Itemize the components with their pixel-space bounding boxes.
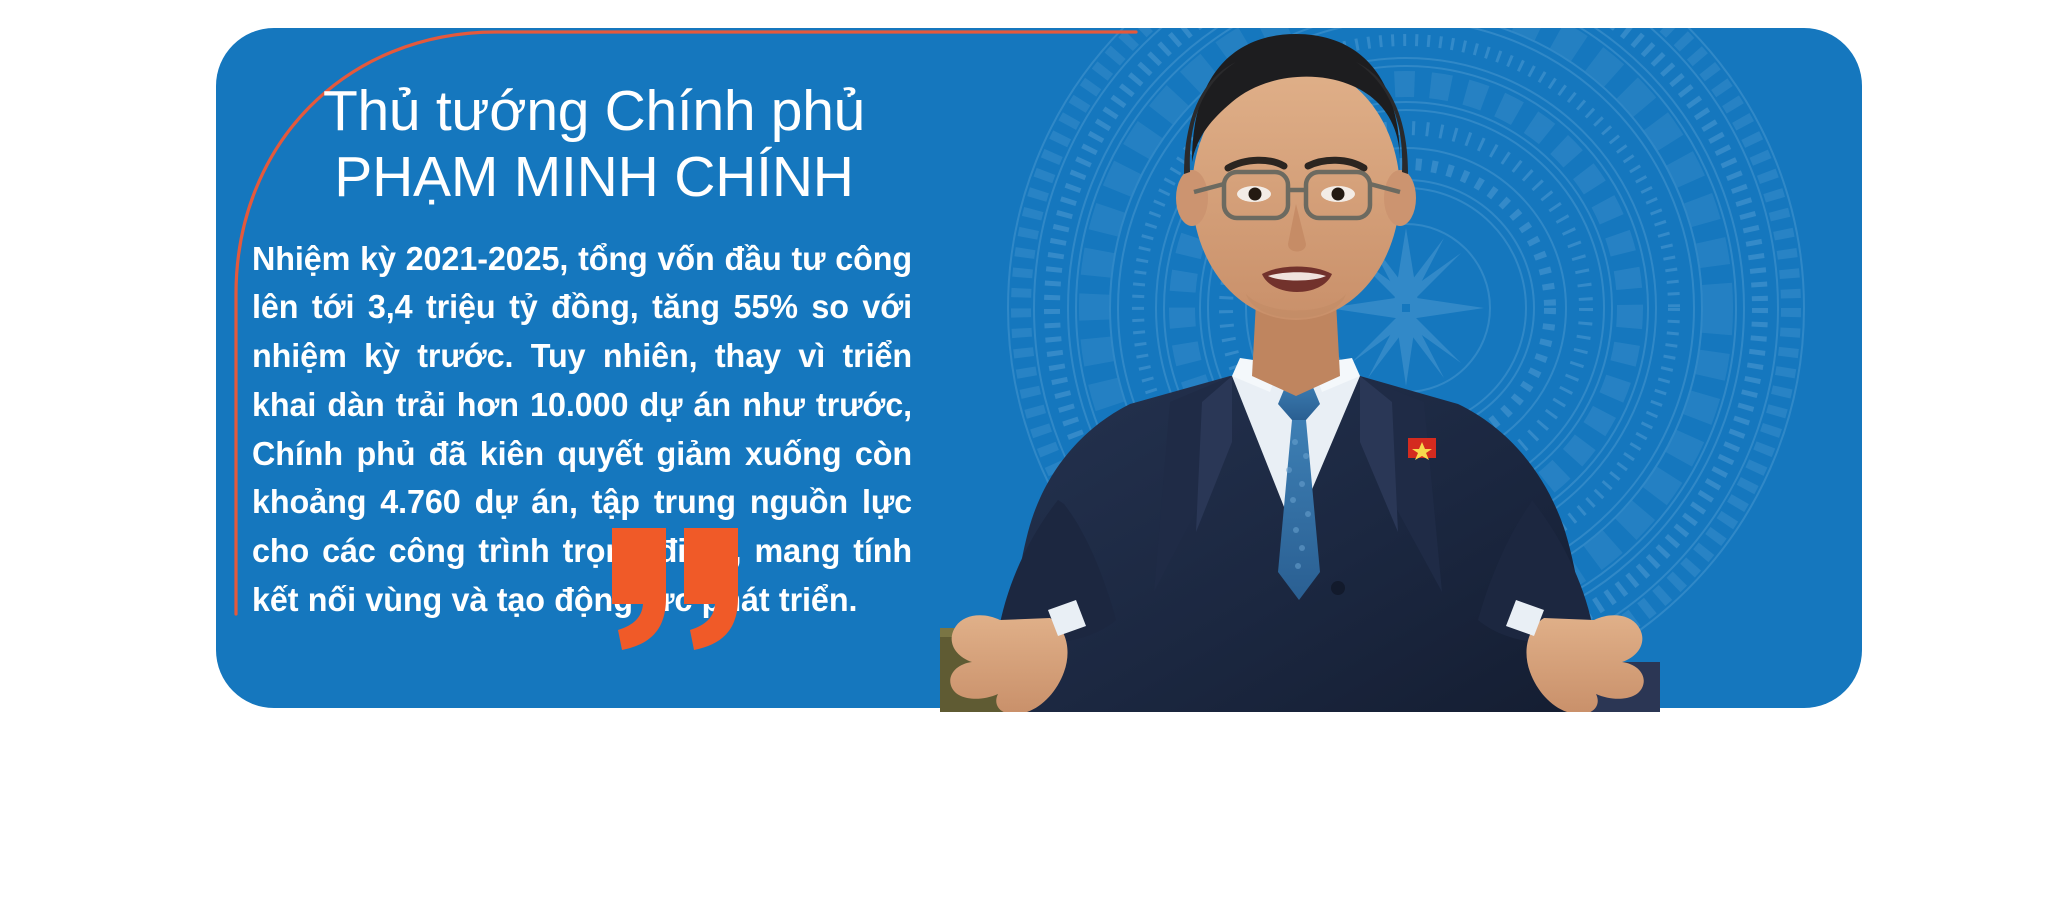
quote-text-column: Thủ tướng Chính phủ PHẠM MINH CHÍNH Nhiệ… xyxy=(252,80,936,626)
quote-body-paragraph: Nhiệm kỳ 2021-2025, tổng vốn đầu tư công… xyxy=(252,236,912,626)
quote-title-name: PHẠM MINH CHÍNH xyxy=(252,146,936,210)
screenshot-root: Thủ tướng Chính phủ PHẠM MINH CHÍNH Nhiệ… xyxy=(0,0,2048,915)
dong-son-drum-watermark-icon xyxy=(996,28,1816,708)
quote-card: Thủ tướng Chính phủ PHẠM MINH CHÍNH Nhiệ… xyxy=(216,28,1862,708)
quote-title-role: Thủ tướng Chính phủ xyxy=(252,80,936,144)
